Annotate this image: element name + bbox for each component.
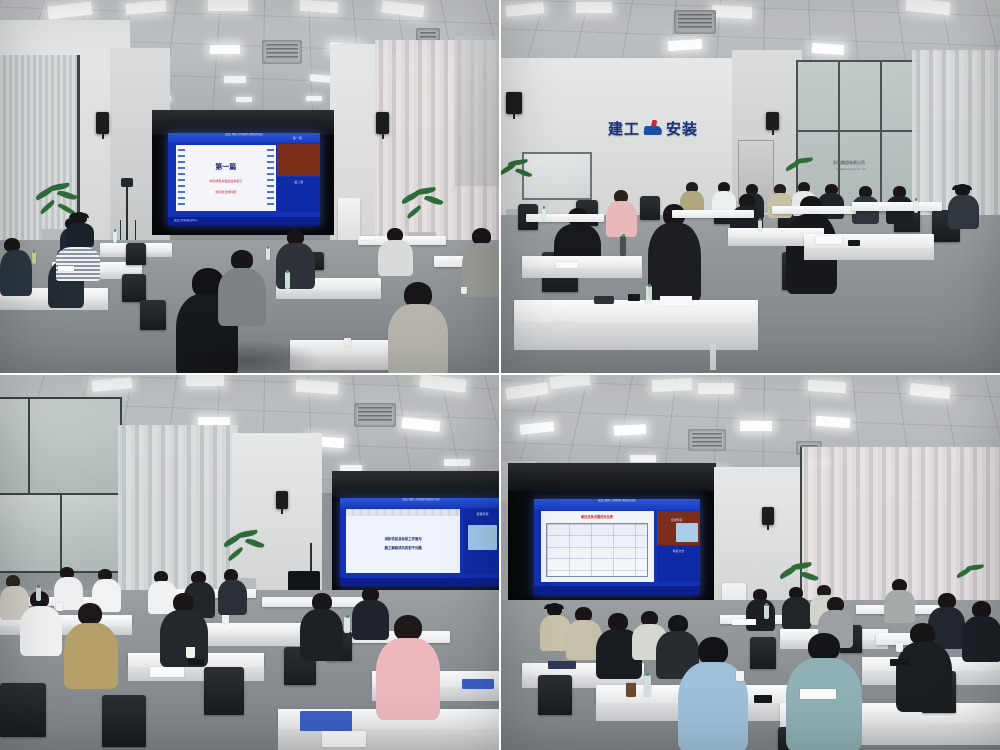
video-wall-bezel bbox=[332, 471, 500, 497]
desk-front bbox=[278, 729, 500, 750]
attendee bbox=[300, 593, 342, 659]
chair bbox=[126, 243, 146, 265]
slide-table bbox=[546, 523, 648, 578]
window-upper-left bbox=[0, 397, 122, 497]
water-bottle bbox=[646, 286, 652, 304]
presentation-slide: 建设工程施工合同管理与索赔实务培训 第一篇 中标通知书发出后未签订 合同的法律风… bbox=[168, 133, 320, 225]
photo-panel-bottom-left[interactable]: 建设工程施工合同管理与索赔实务培训 浅析项目总标段工作面与 施工索赔成功的若干问… bbox=[0, 375, 500, 750]
ceiling-light bbox=[224, 76, 246, 83]
chair bbox=[140, 300, 166, 330]
slide-side-label-bottom: 联系方式 bbox=[657, 549, 700, 553]
notebook bbox=[816, 236, 842, 244]
water-bottle bbox=[914, 200, 918, 213]
camera bbox=[121, 178, 133, 187]
attendee bbox=[782, 587, 810, 627]
slide-title-2: 施工索赔成功的若干问题 bbox=[346, 545, 459, 550]
video-wall-bezel bbox=[508, 463, 716, 491]
glass-company-name-en: Installation Group Co., Ltd. bbox=[804, 168, 898, 171]
water-bottle bbox=[764, 605, 769, 619]
attendee bbox=[218, 569, 246, 613]
coffee-cup bbox=[222, 615, 229, 624]
slide-photo-thumb bbox=[657, 511, 700, 546]
attendee-cap bbox=[66, 212, 94, 244]
wall-speaker bbox=[376, 112, 389, 134]
attendee bbox=[962, 601, 1000, 659]
attendee-grey-shirt bbox=[218, 250, 264, 324]
smartphone bbox=[890, 659, 910, 666]
laptop-bag bbox=[594, 296, 614, 304]
smartphone bbox=[754, 695, 772, 703]
slide-footer bbox=[340, 578, 500, 586]
slide-body: 第一篇 中标通知书发出后未签订 合同的法律风险 bbox=[176, 145, 276, 211]
slide-header: 建设工程施工合同管理与索赔实务培训 bbox=[534, 499, 700, 510]
notepad bbox=[58, 266, 74, 271]
coffee-cup bbox=[461, 287, 467, 294]
slide-photo-thumb bbox=[277, 144, 320, 176]
slide-side-label: 授课专家 bbox=[463, 512, 500, 516]
slide-side-label-top: 授课专家 bbox=[657, 518, 697, 522]
slide-subtitle-1: 中标通知书发出后未签订 bbox=[176, 179, 276, 183]
desk bbox=[522, 256, 642, 268]
notepad bbox=[732, 619, 756, 625]
ceiling-light bbox=[614, 424, 646, 436]
ceiling-light bbox=[210, 45, 240, 54]
coffee-cup bbox=[736, 671, 744, 681]
attendee-cap bbox=[948, 184, 978, 228]
desk-front bbox=[514, 322, 758, 350]
folder bbox=[548, 661, 576, 669]
attendee bbox=[884, 579, 914, 621]
coffee-cup bbox=[186, 647, 195, 658]
ac-vent bbox=[688, 429, 726, 451]
right-wall bbox=[455, 36, 500, 186]
paper-sheet bbox=[800, 689, 836, 699]
ceiling-light bbox=[186, 375, 224, 386]
ceiling-light bbox=[306, 96, 322, 101]
ac-vent bbox=[674, 10, 716, 34]
slide-title-1: 浅析项目总标段工作面与 bbox=[346, 536, 459, 541]
sail-emblem-icon bbox=[643, 120, 663, 138]
ceiling-light bbox=[208, 0, 248, 11]
attendee bbox=[462, 228, 500, 296]
paper-sheet bbox=[322, 731, 366, 747]
blue-folder bbox=[462, 679, 494, 689]
notepad bbox=[556, 262, 578, 268]
coffee-cup bbox=[344, 338, 351, 346]
slide-body: 新旧法条对照的对比表 bbox=[541, 511, 654, 581]
water-bottle bbox=[113, 231, 117, 243]
ceiling-light bbox=[712, 5, 753, 19]
camera-tripod bbox=[120, 182, 134, 240]
wall-speaker bbox=[276, 491, 288, 509]
attendee-olive-shirt bbox=[64, 603, 116, 687]
notepad bbox=[150, 667, 184, 677]
desk bbox=[514, 300, 758, 322]
photo-panel-top-right[interactable]: 安装集团有限公司 Installation Group Co., Ltd. 建工… bbox=[500, 0, 1000, 375]
attendee bbox=[160, 593, 206, 665]
ceiling-light bbox=[236, 97, 252, 102]
slide-footer bbox=[534, 586, 700, 595]
collage-seam-horizontal bbox=[0, 373, 1000, 375]
video-wall-bezel bbox=[152, 110, 334, 135]
water-bottle bbox=[266, 248, 270, 260]
slide-body: 浅析项目总标段工作面与 施工索赔成功的若干问题 bbox=[346, 509, 459, 572]
slide-footer-text: 建设工程管理培训中心 bbox=[174, 218, 198, 222]
collage-seam-vertical bbox=[499, 0, 501, 750]
ceiling-light bbox=[576, 2, 612, 13]
whiteboard bbox=[522, 152, 592, 200]
water-bottle bbox=[32, 252, 36, 264]
smartphone bbox=[628, 294, 640, 301]
attendee bbox=[378, 228, 412, 274]
slide-title: 第一篇 bbox=[176, 162, 276, 172]
desk-front bbox=[804, 248, 934, 260]
logo-text-right: 安装 bbox=[666, 118, 698, 139]
attendee bbox=[276, 230, 314, 288]
water-bottle bbox=[542, 208, 546, 219]
wall-speaker bbox=[762, 507, 774, 525]
ceiling-light bbox=[652, 378, 693, 392]
company-wall-logo: 建工 安装 bbox=[608, 118, 698, 139]
photo-collage: 建设工程施工合同管理与索赔实务培训 第一篇 中标通知书发出后未签订 合同的法律风… bbox=[0, 0, 1000, 750]
slide-side-pane: 第二讲 bbox=[277, 177, 320, 212]
desk bbox=[772, 206, 856, 214]
desk-leg bbox=[710, 344, 716, 370]
chair bbox=[0, 683, 46, 737]
ceiling-light bbox=[444, 459, 470, 466]
water-bottle bbox=[758, 220, 762, 231]
slide-app-toolbar bbox=[346, 509, 459, 515]
slide-header: 建设工程施工合同管理与索赔实务培训 bbox=[340, 498, 500, 508]
slide-side-pane: 联系方式 bbox=[657, 546, 700, 582]
photo-panel-bottom-right[interactable]: 建设工程施工合同管理与索赔实务培训 新旧法条对照的对比表 联系方式 授课专家 bbox=[500, 375, 1000, 750]
blue-folder bbox=[300, 711, 352, 731]
desk-front bbox=[522, 268, 642, 278]
slide-side-label-top: 第一讲 bbox=[277, 136, 317, 140]
window-lower-left bbox=[0, 493, 122, 573]
presentation-slide: 建设工程施工合同管理与索赔实务培训 新旧法条对照的对比表 联系方式 授课专家 bbox=[534, 499, 700, 595]
photo-panel-top-left[interactable]: 建设工程施工合同管理与索赔实务培训 第一篇 中标通知书发出后未签订 合同的法律风… bbox=[0, 0, 500, 375]
notepad bbox=[360, 236, 374, 240]
smartphone bbox=[188, 659, 204, 665]
ceiling-light bbox=[740, 421, 772, 431]
logo-text-left: 建工 bbox=[608, 118, 640, 139]
attendee bbox=[0, 238, 30, 296]
glass-company-name-cn: 安装集团有限公司 bbox=[806, 160, 892, 166]
ceiling-light bbox=[630, 455, 656, 462]
ac-vent bbox=[354, 403, 396, 427]
coffee-cup bbox=[56, 603, 63, 611]
thermos bbox=[620, 236, 626, 256]
chair bbox=[204, 667, 244, 715]
attendee bbox=[566, 607, 600, 659]
chair bbox=[122, 274, 146, 302]
slide-table-title: 新旧法条对照的对比表 bbox=[541, 514, 654, 519]
coffee-cup bbox=[896, 643, 903, 652]
attendee-pink-shirt-front bbox=[376, 615, 438, 719]
ceiling-light bbox=[812, 43, 845, 55]
slide-subtitle-2: 合同的法律风险 bbox=[176, 190, 276, 194]
slide-ornament-left bbox=[178, 149, 185, 207]
water-bottle bbox=[344, 617, 350, 633]
water-bottle bbox=[285, 272, 290, 289]
wall-speaker bbox=[96, 112, 109, 134]
ceiling-light bbox=[698, 383, 734, 394]
wall-speaker bbox=[506, 92, 522, 114]
thermos bbox=[36, 587, 41, 601]
slide-ornament-right bbox=[267, 149, 274, 207]
desk bbox=[852, 202, 942, 211]
desk bbox=[526, 214, 604, 222]
slide-side-label-bottom: 第二讲 bbox=[277, 180, 320, 184]
attendee-blue-shirt-front bbox=[678, 637, 746, 749]
chair bbox=[750, 637, 776, 669]
thermos bbox=[644, 675, 651, 697]
ac-vent bbox=[262, 40, 302, 64]
attendee-front-woman bbox=[648, 204, 700, 300]
desk bbox=[672, 210, 754, 218]
chair bbox=[538, 675, 572, 715]
slide-speaker-photo bbox=[468, 525, 498, 550]
attendee bbox=[896, 623, 950, 709]
attendee-foreground-grey bbox=[388, 282, 446, 375]
attendee-pink-shirt bbox=[606, 190, 636, 236]
presentation-slide: 建设工程施工合同管理与索赔实务培训 浅析项目总标段工作面与 施工索赔成功的若干问… bbox=[340, 498, 500, 586]
wall-speaker bbox=[766, 112, 779, 130]
slide-footer: 建设工程管理培训中心 bbox=[168, 217, 320, 225]
coffee-cup bbox=[626, 683, 636, 697]
chair bbox=[102, 695, 146, 747]
smartphone bbox=[848, 240, 860, 246]
desk-front bbox=[276, 290, 381, 299]
slide-side-pane: 授课专家 bbox=[463, 509, 500, 574]
notebook bbox=[660, 296, 692, 306]
